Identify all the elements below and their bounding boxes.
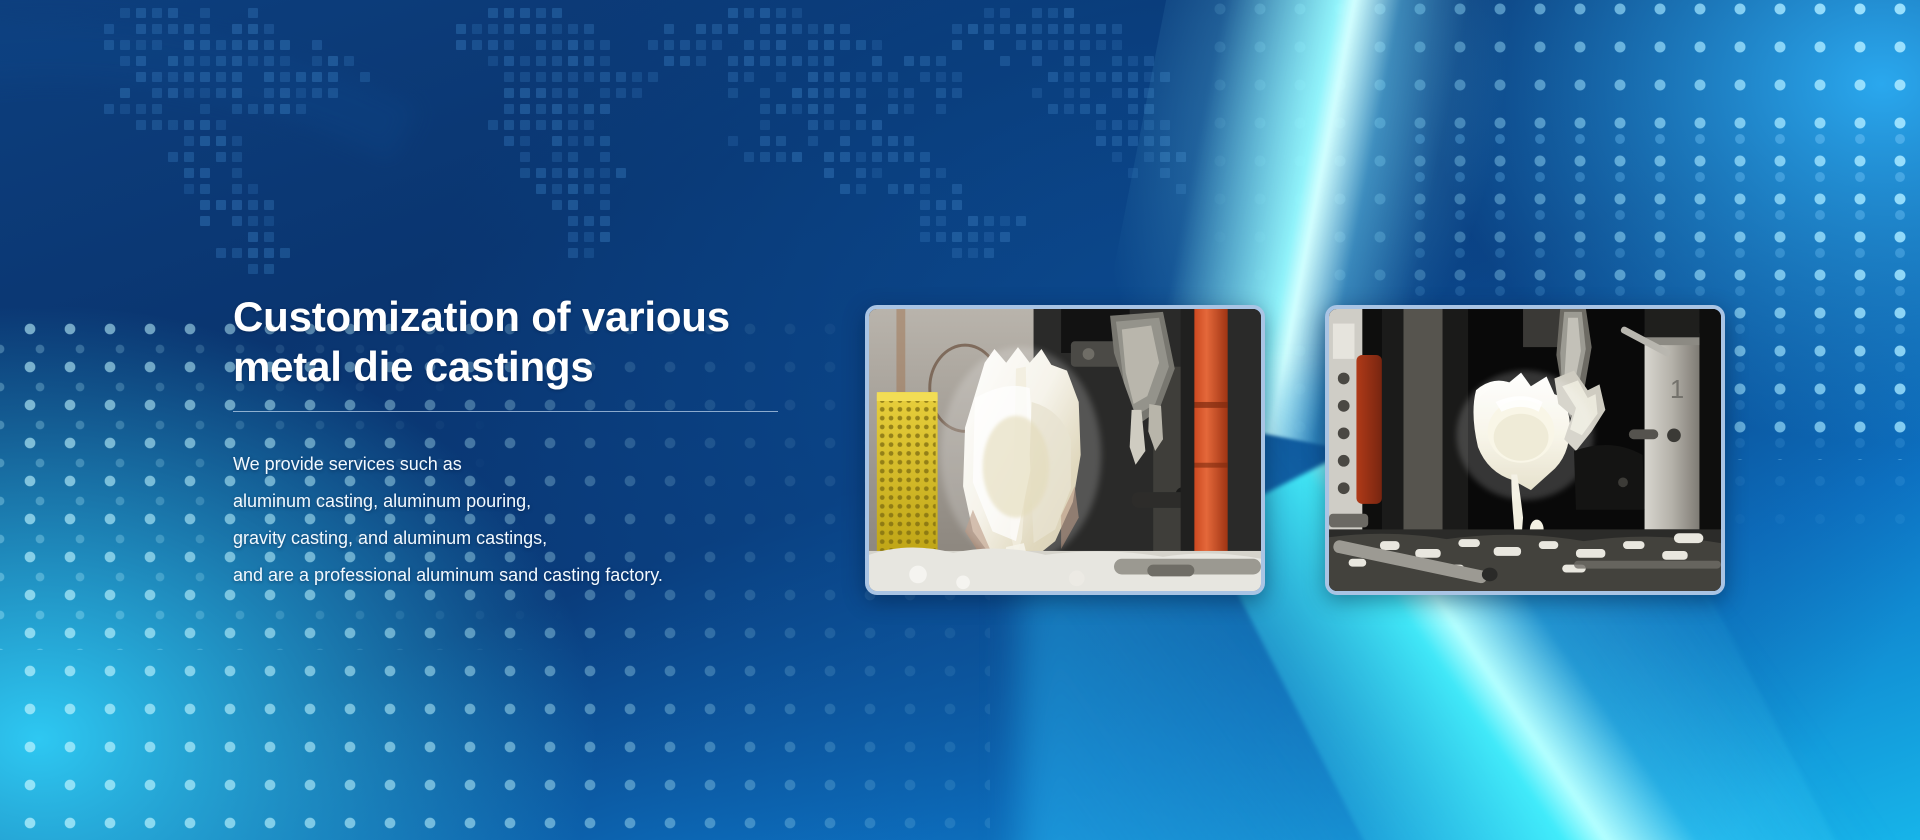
description-line-4: and are a professional aluminum sand cas… bbox=[233, 557, 793, 594]
description-line-1: We provide services such as bbox=[233, 446, 793, 483]
hero-copy: Customization of various metal die casti… bbox=[233, 292, 793, 594]
photo-aluminum-casting-ingot[interactable] bbox=[865, 305, 1265, 595]
title-divider bbox=[233, 411, 778, 412]
photo-molten-metal-pour[interactable]: 1 bbox=[1325, 305, 1725, 595]
hero-description: We provide services such as aluminum cas… bbox=[233, 446, 793, 594]
photo-1-image bbox=[869, 309, 1261, 591]
description-line-3: gravity casting, and aluminum castings, bbox=[233, 520, 793, 557]
svg-text:1: 1 bbox=[1670, 376, 1684, 404]
page-title: Customization of various metal die casti… bbox=[233, 292, 793, 391]
description-line-2: aluminum casting, aluminum pouring, bbox=[233, 483, 793, 520]
photo-2-image: 1 bbox=[1329, 309, 1721, 591]
hero-banner: Customization of various metal die casti… bbox=[0, 0, 1920, 840]
world-map-dot-pattern bbox=[40, 0, 1360, 292]
